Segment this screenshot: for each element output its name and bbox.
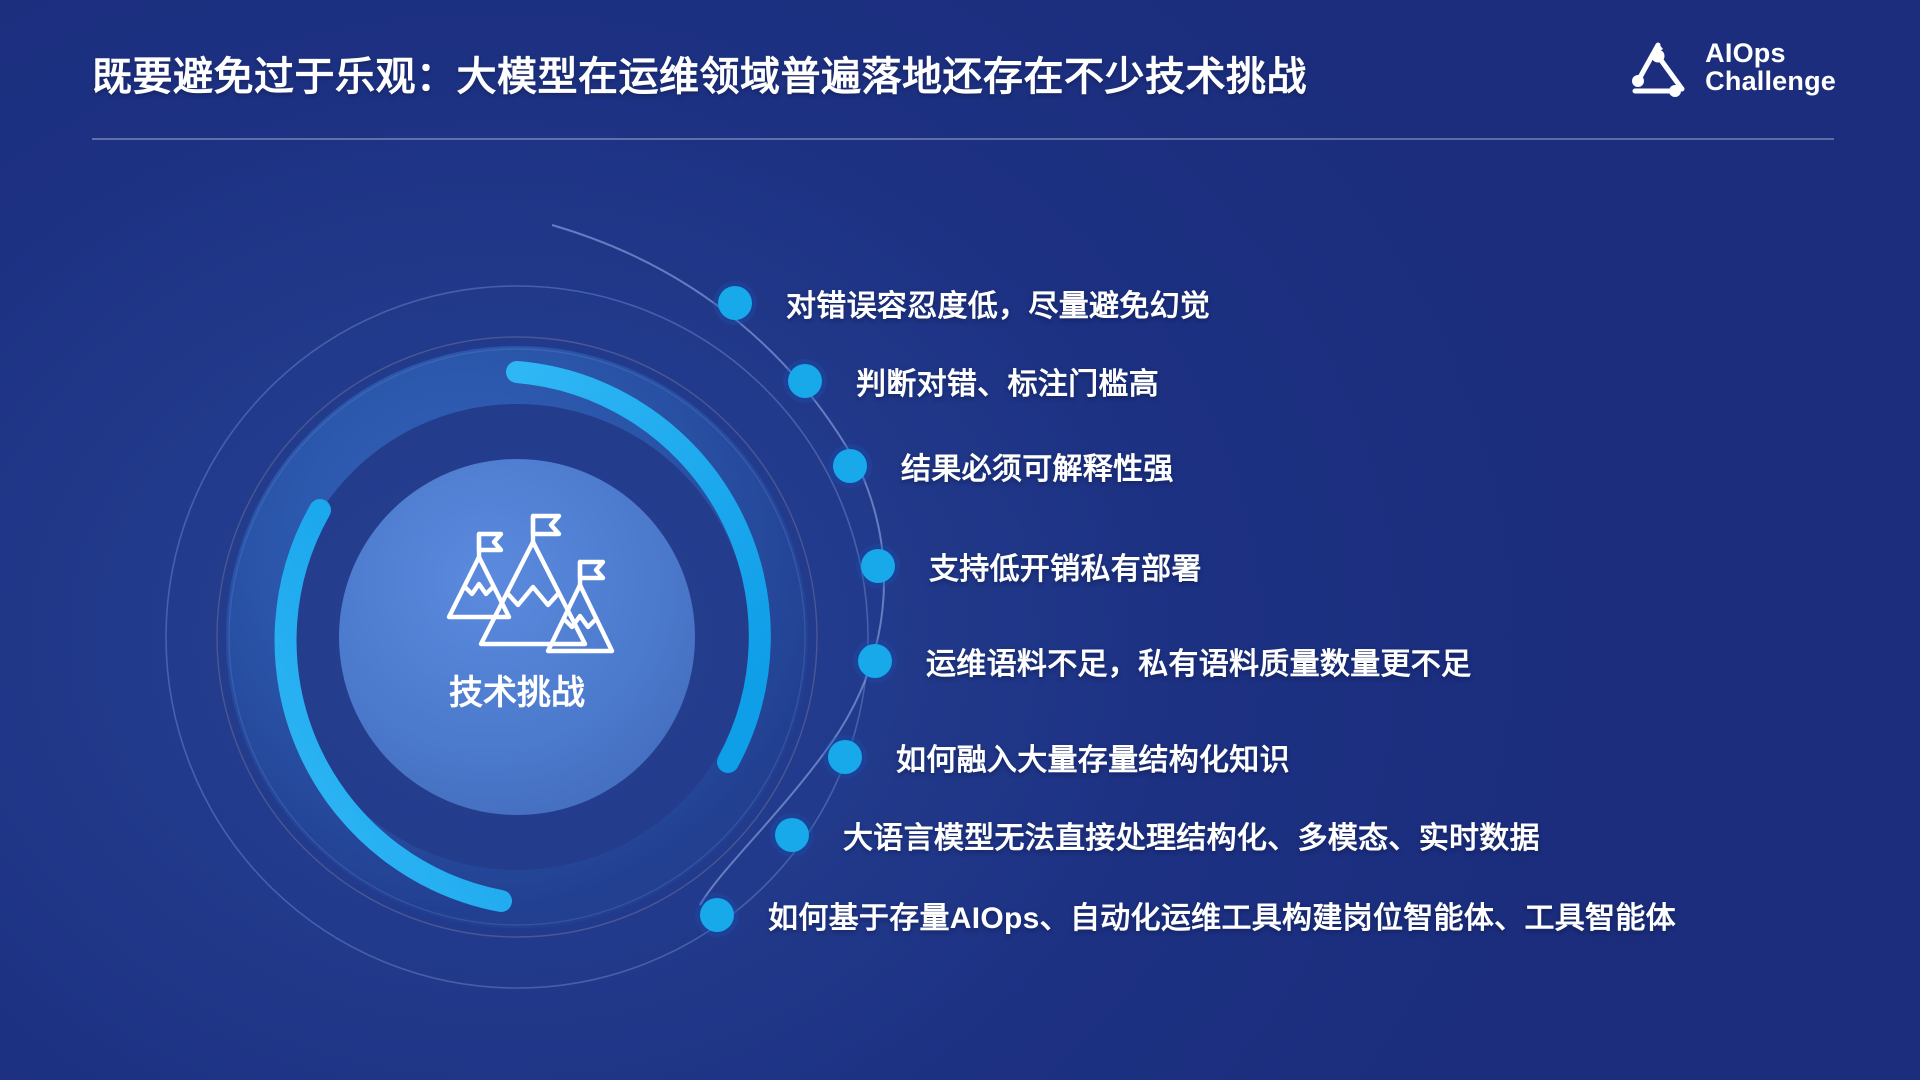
bullet-dot-icon — [833, 449, 867, 483]
bullet-dot-icon — [700, 898, 734, 932]
list-item[interactable]: 大语言模型无法直接处理结构化、多模态、实时数据 — [775, 813, 1540, 857]
list-item-label: 如何基于存量AIOps、自动化运维工具构建岗位智能体、工具智能体 — [768, 893, 1676, 937]
bullet-dot-icon — [828, 740, 862, 774]
list-item-label: 大语言模型无法直接处理结构化、多模态、实时数据 — [843, 813, 1540, 857]
list-item[interactable]: 运维语料不足，私有语料质量数量更不足 — [858, 639, 1471, 683]
bullet-dot-icon — [775, 818, 809, 852]
list-item[interactable]: 对错误容忍度低，尽量避免幻觉 — [718, 281, 1210, 325]
bullet-dot-icon — [861, 549, 895, 583]
list-item[interactable]: 如何基于存量AIOps、自动化运维工具构建岗位智能体、工具智能体 — [700, 893, 1676, 937]
slide-root: 既要避免过于乐观：大模型在运维领域普遍落地还存在不少技术挑战 AIOps Cha… — [0, 0, 1920, 1080]
bullet-dot-icon — [788, 364, 822, 398]
list-item-label: 结果必须可解释性强 — [901, 444, 1174, 488]
list-item-label: 判断对错、标注门槛高 — [856, 359, 1159, 403]
bullet-dot-icon — [858, 644, 892, 678]
list-item[interactable]: 支持低开销私有部署 — [861, 544, 1202, 588]
list-item-label: 支持低开销私有部署 — [929, 544, 1202, 588]
list-item[interactable]: 判断对错、标注门槛高 — [788, 359, 1159, 403]
list-item[interactable]: 结果必须可解释性强 — [833, 444, 1174, 488]
list-item[interactable]: 如何融入大量存量结构化知识 — [828, 735, 1290, 779]
list-item-label: 对错误容忍度低，尽量避免幻觉 — [786, 281, 1210, 325]
bullet-dot-icon — [718, 286, 752, 320]
list-item-label: 运维语料不足，私有语料质量数量更不足 — [926, 639, 1471, 683]
connector-path — [552, 225, 884, 905]
list-item-label: 如何融入大量存量结构化知识 — [896, 735, 1290, 779]
